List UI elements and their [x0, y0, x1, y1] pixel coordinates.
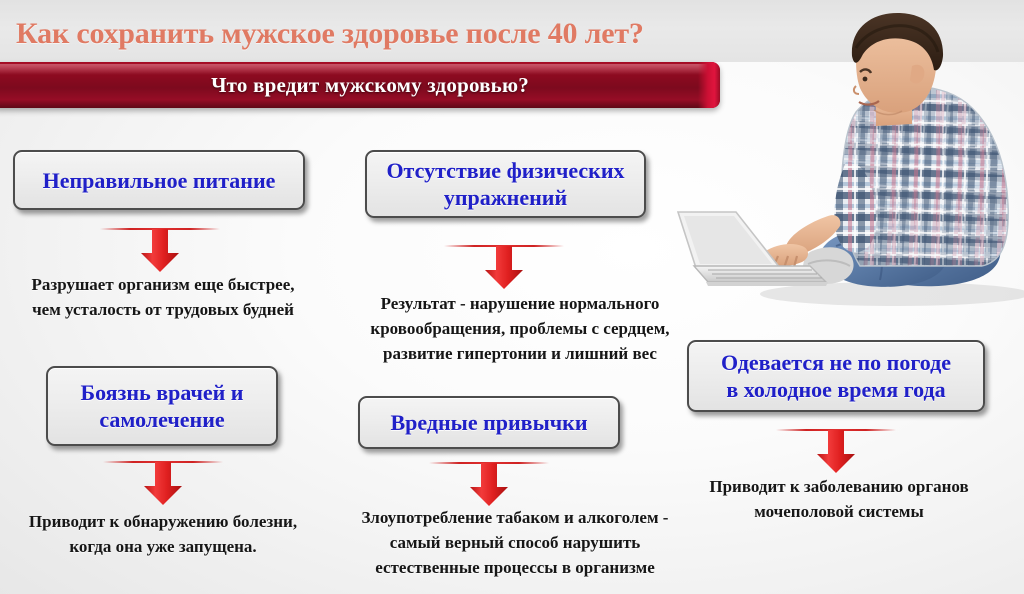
- card-bad-habits: Вредные привычки: [358, 396, 620, 449]
- caption-lack-of-exercise: Результат - нарушение нормального кровоо…: [350, 291, 690, 366]
- caption-poor-nutrition: Разрушает организм еще быстрее, чем уста…: [8, 272, 318, 322]
- card-label-bad-habits: Вредные привычки: [390, 409, 587, 436]
- section-banner: Что вредит мужскому здоровью?: [0, 62, 720, 108]
- arrow-fear-of-doctors: [103, 459, 223, 507]
- down-arrow-icon: [484, 246, 524, 290]
- page-title: Как сохранить мужское здоровье после 40 …: [16, 17, 716, 51]
- card-label-dressing-for-weather: Одевается не по погоде в холодное время …: [721, 349, 951, 403]
- down-arrow-icon: [140, 229, 180, 273]
- caption-dressing-for-weather: Приводит к заболеванию органов мочеполов…: [684, 474, 994, 524]
- card-label-lack-of-exercise: Отсутствие физических упражнений: [386, 157, 624, 211]
- card-lack-of-exercise: Отсутствие физических упражнений: [365, 150, 646, 218]
- arrow-dressing-for-weather: [776, 427, 896, 475]
- caption-fear-of-doctors: Приводит к обнаружению болезни, когда он…: [8, 509, 318, 559]
- card-label-poor-nutrition: Неправильное питание: [43, 167, 276, 194]
- card-label-fear-of-doctors: Боязнь врачей и самолечение: [81, 379, 244, 433]
- down-arrow-icon: [816, 430, 856, 474]
- card-dressing-for-weather: Одевается не по погоде в холодное время …: [687, 340, 985, 412]
- section-banner-title: Что вредит мужскому здоровью?: [0, 62, 720, 108]
- caption-bad-habits: Злоупотребление табаком и алкоголем - са…: [340, 505, 690, 580]
- man-with-laptop-photo: [660, 0, 1024, 344]
- arrow-poor-nutrition: [100, 226, 220, 274]
- down-arrow-icon: [469, 463, 509, 507]
- arrow-bad-habits: [429, 460, 549, 508]
- down-arrow-icon: [143, 462, 183, 506]
- card-poor-nutrition: Неправильное питание: [13, 150, 305, 210]
- card-fear-of-doctors: Боязнь врачей и самолечение: [46, 366, 278, 446]
- arrow-lack-of-exercise: [444, 243, 564, 291]
- infographic-canvas: Как сохранить мужское здоровье после 40 …: [0, 0, 1024, 594]
